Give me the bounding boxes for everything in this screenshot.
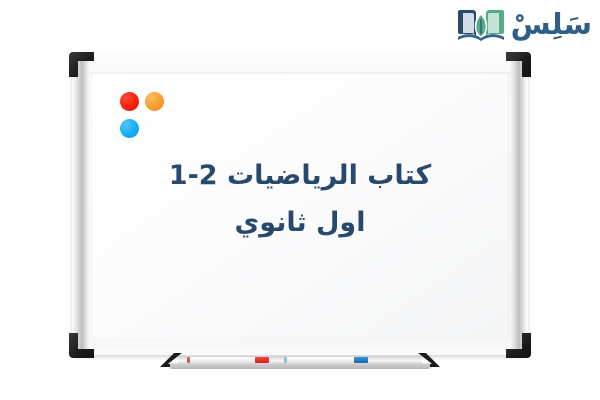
- marker-red: [187, 357, 269, 363]
- brand-logo: سَلِسْ: [458, 2, 592, 48]
- whiteboard-surface: كتاب الرياضيات 2-1 اول ثانوي: [91, 72, 509, 338]
- board-text-block: كتاب الرياضيات 2-1 اول ثانوي: [91, 156, 509, 242]
- whiteboard: كتاب الرياضيات 2-1 اول ثانوي: [72, 55, 528, 355]
- board-subtitle: اول ثانوي: [91, 203, 509, 242]
- marker-red-tip: [187, 357, 190, 363]
- pen-tray: [160, 352, 440, 374]
- magnet-red-icon: [120, 92, 139, 111]
- magnet-blue-icon: [120, 119, 139, 138]
- board-title: كتاب الرياضيات 2-1: [91, 156, 509, 195]
- marker-blue-cap: [354, 357, 368, 363]
- whiteboard-frame-right-rail: [509, 55, 528, 355]
- pen-tray-lip: [170, 364, 430, 369]
- whiteboard-frame-left-rail: [72, 55, 91, 355]
- magnet-group: [120, 92, 184, 152]
- brand-wordmark: سَلِسْ: [511, 10, 592, 41]
- marker-red-cap: [255, 357, 269, 363]
- open-book-icon: [458, 5, 504, 45]
- marker-blue-tip: [284, 357, 287, 363]
- marker-blue: [284, 357, 368, 363]
- magnet-orange-icon: [145, 92, 164, 111]
